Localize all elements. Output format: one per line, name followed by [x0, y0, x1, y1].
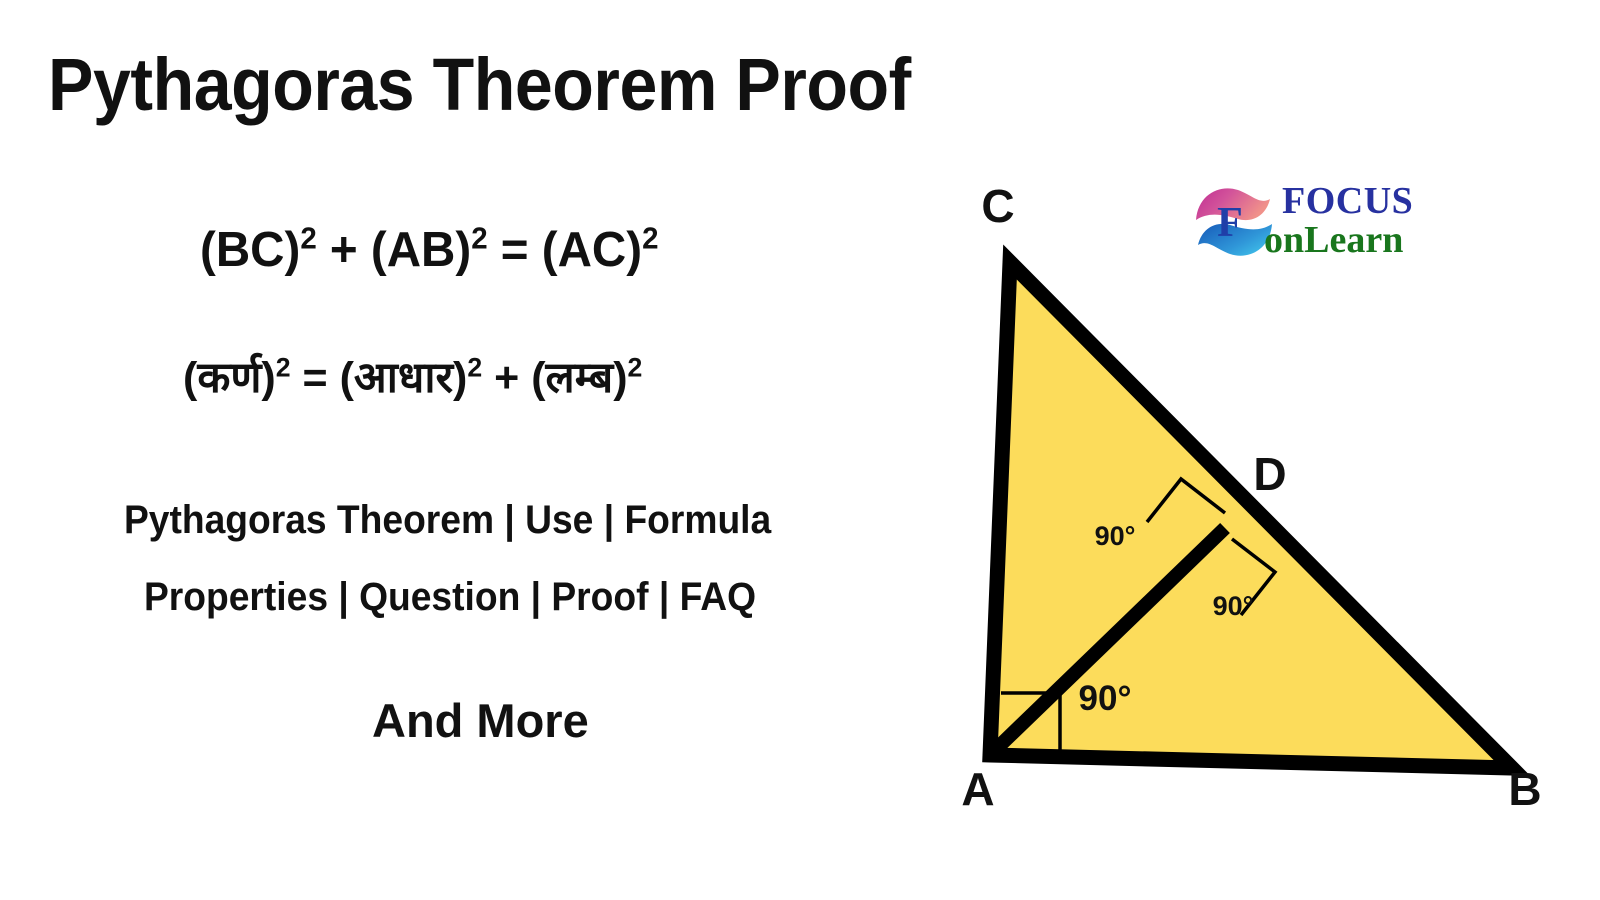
vertex-label-c: C	[981, 180, 1014, 232]
brand-logo[interactable]: F FOCUS onLearn	[1186, 172, 1456, 272]
formula-hindi-exp2: 2	[467, 353, 482, 383]
formula-hindi-term1: (कर्ण)	[183, 354, 276, 402]
formula-latin-exp1: 2	[300, 222, 316, 256]
page-title: Pythagoras Theorem Proof	[48, 46, 911, 124]
formula-latin-term1: (BC)	[200, 223, 300, 277]
formula-latin-term2: (AB)	[371, 223, 471, 277]
formula-latin-exp3: 2	[642, 222, 658, 256]
vertex-label-b: B	[1508, 763, 1541, 815]
angle-label-adb: 90°	[1213, 591, 1254, 621]
formula-hindi-term3: (लम्ब)	[531, 354, 627, 402]
formula-hindi-exp3: 2	[628, 353, 643, 383]
topic-list-line-2: Properties | Question | Proof | FAQ	[144, 575, 756, 620]
angle-label-adc: 90°	[1095, 521, 1136, 551]
logo-wordmark: FOCUS onLearn	[1282, 182, 1458, 259]
formula-pythagoras-latin: (BC)2 + (AB)2 = (AC)2	[200, 224, 658, 278]
logo-monogram-f: F	[1217, 200, 1243, 246]
vertex-label-a: A	[961, 763, 994, 815]
formula-hindi-exp1: 2	[276, 353, 291, 383]
formula-hindi-op2: +	[482, 354, 531, 402]
formula-hindi-op1: =	[291, 354, 340, 402]
formula-latin-op1: +	[317, 223, 371, 277]
and-more-text: And More	[372, 693, 589, 748]
angle-label-a: 90°	[1079, 679, 1132, 718]
formula-hindi-term2: (आधार)	[340, 354, 468, 402]
formula-latin-term3: (AC)	[542, 223, 642, 277]
formula-latin-op2: =	[488, 223, 542, 277]
poster-canvas: Pythagoras Theorem Proof (BC)2 + (AB)2 =…	[0, 0, 1600, 900]
vertex-label-d: D	[1253, 448, 1286, 500]
formula-pythagoras-hindi: (कर्ण)2 = (आधार)2 + (लम्ब)2	[183, 355, 642, 402]
formula-latin-exp2: 2	[471, 222, 487, 256]
topic-list-line-1: Pythagoras Theorem | Use | Formula	[124, 498, 771, 543]
logo-word-focus: FOCUS	[1282, 182, 1458, 220]
logo-word-onlearn: onLearn	[1264, 221, 1458, 259]
